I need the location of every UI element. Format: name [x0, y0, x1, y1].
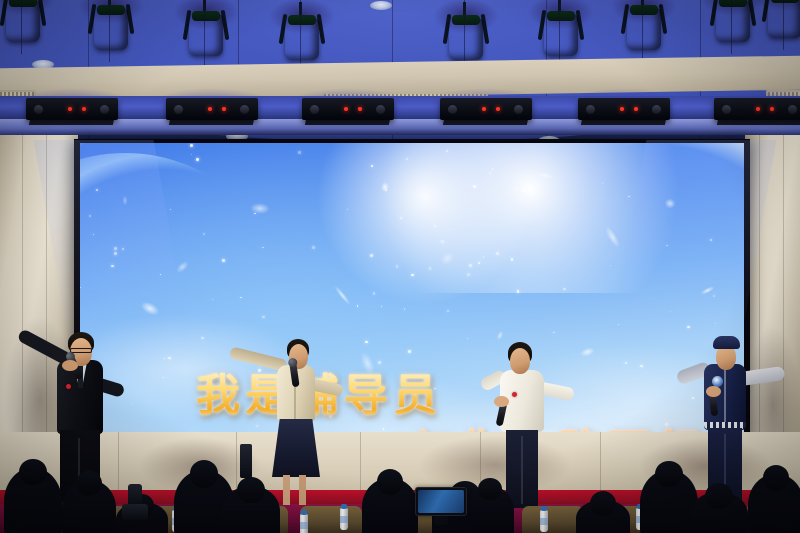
performer-3-head	[510, 348, 530, 374]
sparkle	[312, 246, 315, 249]
rigging-wire	[642, 0, 643, 62]
audience-head	[478, 478, 501, 500]
sparkle	[347, 209, 348, 210]
sparkle	[404, 308, 406, 310]
performer-4-cap	[713, 336, 740, 349]
performer-2-leg	[299, 475, 306, 505]
rigging-wire	[783, 0, 784, 50]
performer-1-hand	[62, 360, 78, 371]
audience-head	[590, 491, 616, 516]
sparkle	[446, 150, 448, 152]
bar-light-fixture	[166, 98, 258, 126]
rigging-wire	[731, 0, 732, 54]
par-can-light	[88, 2, 134, 58]
auditorium-chair	[300, 506, 362, 533]
performer-4-hand	[706, 386, 721, 397]
water-bottle	[340, 508, 348, 530]
performer-2-leg	[283, 475, 290, 505]
audience-head	[763, 465, 790, 491]
sparkle	[114, 247, 117, 250]
rigging-wire	[559, 0, 560, 68]
audience-head	[705, 483, 733, 510]
stage-performance-screenshot: 我是辅导员 与你一路同行 时 光 荏 苒 我 们 奋 进 吧	[0, 0, 800, 533]
sparkle	[467, 273, 470, 276]
sparkle	[447, 310, 449, 312]
audience-head	[377, 469, 404, 495]
sparkle	[489, 172, 491, 174]
audience-head	[190, 460, 219, 488]
recessed-downlight	[370, 1, 392, 10]
par-can-light	[443, 12, 489, 68]
rigging-wire	[204, 0, 205, 68]
sparkle	[373, 292, 376, 295]
par-can-light	[279, 12, 325, 68]
performer-2-skirt	[272, 419, 320, 477]
sparkle	[441, 240, 444, 243]
bar-light-fixture	[26, 98, 118, 126]
dandelion-seed	[123, 196, 128, 206]
sparkle	[203, 233, 205, 235]
bar-light-fixture	[714, 98, 800, 126]
water-bottle	[300, 514, 308, 533]
recording-phone	[415, 487, 467, 516]
sparkle	[357, 305, 359, 307]
sparkle	[222, 259, 225, 262]
sparkle	[80, 287, 81, 288]
sparkle	[483, 256, 484, 257]
led-screen: 我是辅导员 与你一路同行 时 光 荏 苒 我 们 奋 进 吧	[80, 143, 744, 440]
audience-head	[19, 459, 47, 486]
sparkle	[212, 299, 213, 300]
sparkle	[114, 252, 117, 255]
stage-monitor-stand	[240, 444, 252, 478]
sparkle	[396, 265, 399, 268]
sparkle	[89, 215, 91, 217]
sparkle	[111, 265, 113, 267]
sparkle	[371, 165, 373, 167]
sparkle	[610, 265, 611, 266]
audience-head	[655, 461, 683, 488]
camera-rig-base	[122, 504, 148, 520]
audience-head	[237, 477, 265, 504]
dandelion-seed	[333, 284, 353, 307]
performer-1-lapel-badge	[66, 384, 71, 389]
sparkle	[196, 158, 199, 161]
ceiling	[0, 0, 800, 150]
par-can-light	[621, 2, 667, 58]
par-can-light	[762, 0, 800, 46]
par-can-light	[538, 8, 584, 64]
performer-3	[462, 330, 592, 500]
performer-3-hand	[494, 396, 509, 407]
sparkle	[381, 306, 382, 307]
sparkle	[469, 264, 472, 267]
bar-light-fixture	[302, 98, 394, 126]
ceiling-soffit	[0, 119, 800, 135]
sparkle	[517, 290, 519, 292]
sparkle	[511, 258, 514, 261]
sparkle	[515, 188, 516, 189]
water-bottle	[540, 510, 548, 532]
sparkle	[262, 316, 264, 318]
rigging-wire	[300, 0, 301, 72]
rigging-wire	[109, 0, 110, 62]
sparkle	[408, 350, 411, 353]
auditorium-chair	[522, 506, 584, 533]
par-can-light	[0, 0, 46, 50]
sparkle	[492, 168, 493, 169]
sparkle	[666, 245, 668, 247]
par-can-light	[710, 0, 756, 50]
par-can-light	[183, 8, 229, 64]
sparkle	[473, 185, 475, 187]
rigging-wire	[21, 0, 22, 54]
sparkle	[298, 151, 301, 154]
sparkle	[370, 254, 373, 257]
sparkle	[713, 295, 715, 297]
bar-light-fixture	[440, 98, 532, 126]
audience-head	[76, 471, 102, 496]
sparkle	[400, 217, 402, 219]
sparkle	[478, 262, 480, 264]
sparkle	[434, 225, 436, 227]
sparkle	[365, 341, 368, 344]
bar-light-fixture	[578, 98, 670, 126]
camera-rig	[128, 484, 142, 506]
sparkle	[122, 248, 124, 250]
sparkle	[640, 365, 643, 368]
performer-3-lapel-badge	[512, 392, 517, 397]
